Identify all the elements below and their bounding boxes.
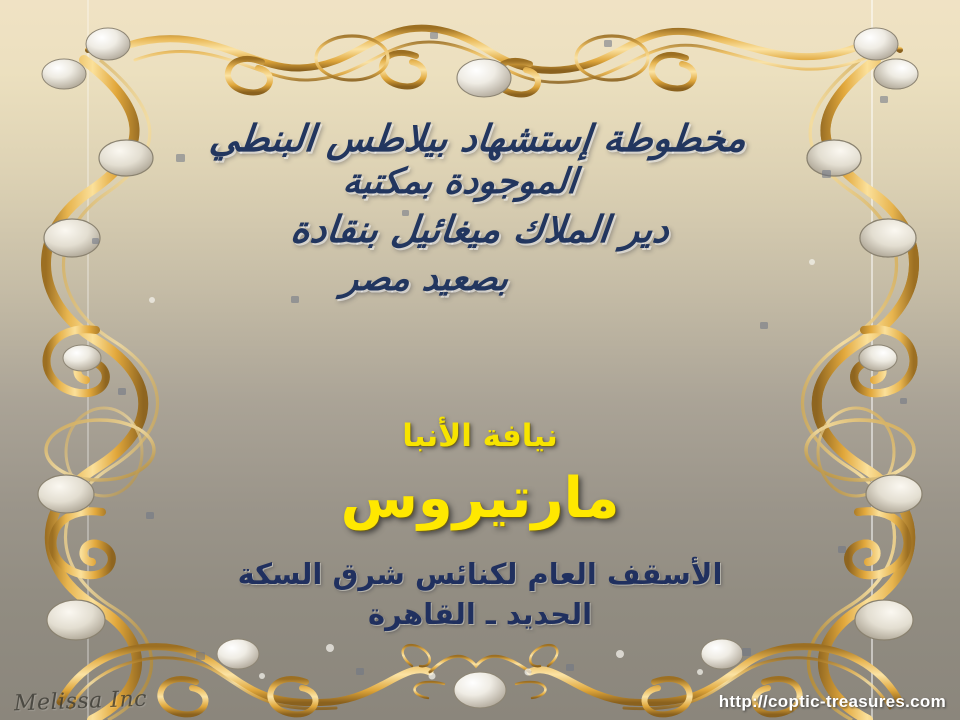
bishop-subtitle-line-1: الأسقف العام لكنائس شرق السكة — [160, 554, 800, 594]
calligraphy-line-2: الموجودة بمكتبة — [158, 163, 762, 202]
bishop-block: نيافة الأنبا مارتيروس الأسقف العام لكنائ… — [160, 418, 800, 634]
bishop-subtitle-line-2: الحديد ـ القاهرة — [160, 594, 800, 634]
bishop-name: مارتيروس — [160, 467, 800, 531]
bishop-honorific: نيافة الأنبا — [160, 418, 800, 455]
calligraphy-line-4: بصعيد مصر — [158, 260, 692, 299]
calligraphy-line-1: مخطوطة إستشهاد بيلاطس البنطي — [158, 118, 798, 159]
manuscript-title-block: مخطوطة إستشهاد بيلاطس البنطي الموجودة بم… — [160, 118, 800, 299]
artist-signature-watermark: Melissa Inc — [14, 687, 148, 717]
site-url-watermark: http://coptic-treasures.com — [719, 692, 946, 712]
slide-content: مخطوطة إستشهاد بيلاطس البنطي الموجودة بم… — [160, 0, 800, 720]
calligraphy-line-3: دير الملاك ميغائيل بنقادة — [158, 209, 802, 250]
title-slide: مخطوطة إستشهاد بيلاطس البنطي الموجودة بم… — [0, 0, 960, 720]
bishop-subtitle: الأسقف العام لكنائس شرق السكة الحديد ـ ا… — [160, 554, 800, 634]
